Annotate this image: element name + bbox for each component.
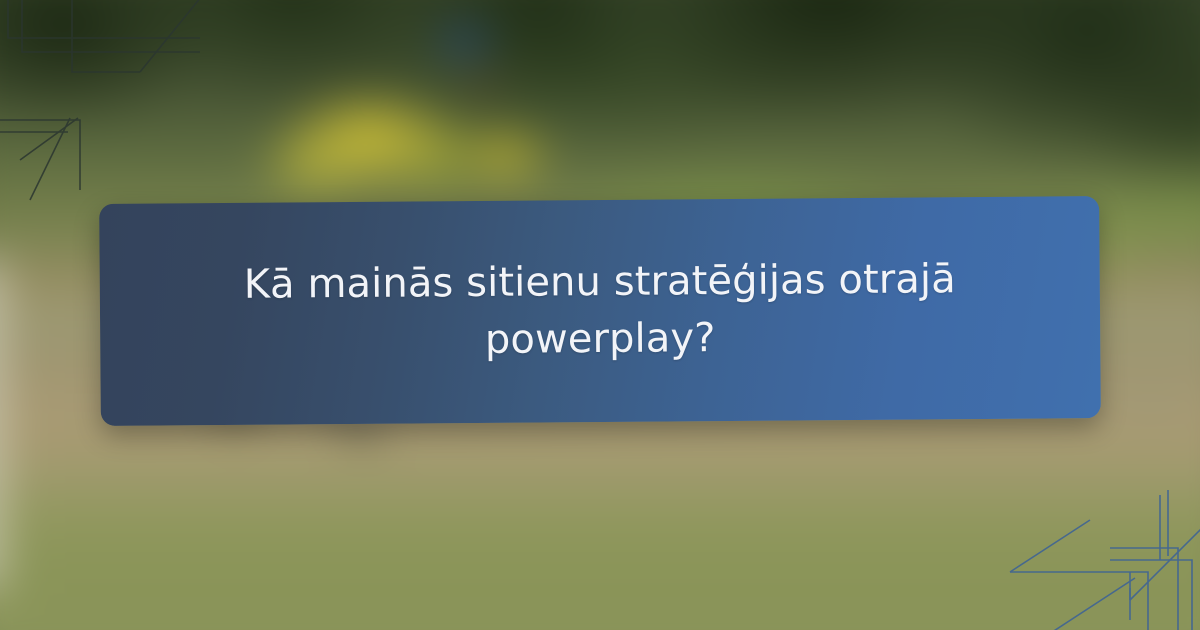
player-face xyxy=(440,52,530,122)
player-arm xyxy=(430,110,580,200)
stump-post xyxy=(0,260,12,590)
page-title: Kā mainās sitienu stratēģijas otrajā pow… xyxy=(192,251,1009,371)
social-card-canvas: Kā mainās sitienu stratēģijas otrajā pow… xyxy=(0,0,1200,630)
headline-card-wrapper: Kā mainās sitienu stratēģijas otrajā pow… xyxy=(100,200,1100,422)
headline-card: Kā mainās sitienu stratēģijas otrajā pow… xyxy=(99,196,1101,426)
